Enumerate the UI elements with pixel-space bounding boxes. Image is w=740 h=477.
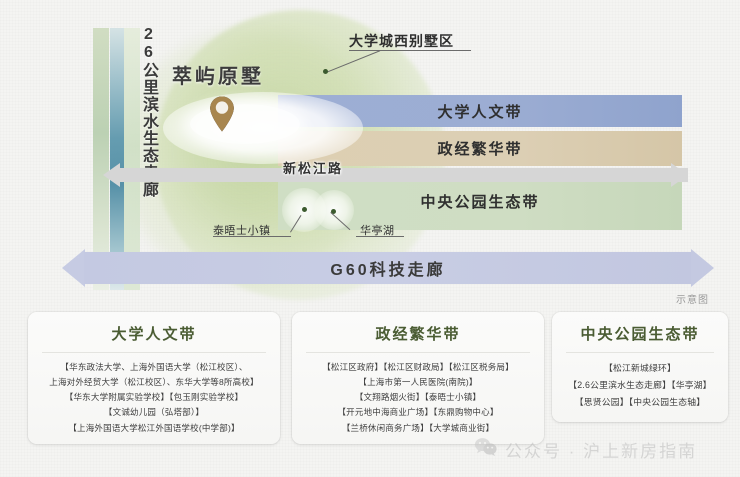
arrow-shaft xyxy=(119,168,688,182)
card-body: 【华东政法大学、上海外国语大学（松江校区）、 上海对外经贸大学（松江校区）、东华… xyxy=(28,353,280,442)
card-economy-prosperity-belt: 政经繁华带 【松江区政府】【松江区财政局】【松江区税务局】 【上海市第一人民医院… xyxy=(292,312,544,444)
project-name-label: 萃屿原墅 xyxy=(172,60,264,89)
watermark-text: 公众号 · 沪上新房指南 xyxy=(505,437,697,462)
card-line: 【文翔路烟火街】【泰晤士小镇】 xyxy=(300,390,536,405)
schematic-note: 示意图 xyxy=(676,291,709,306)
road-label: 新松江路 xyxy=(283,158,343,177)
watermark: 公众号 · 沪上新房指南 xyxy=(474,437,697,462)
card-title: 大学人文带 xyxy=(28,312,280,352)
card-line: 【松江新城绿环】 xyxy=(560,360,720,377)
poi-underline-thames xyxy=(213,236,291,237)
card-title: 中央公园生态带 xyxy=(552,312,728,352)
map-pin-icon xyxy=(208,95,236,133)
arrow-head-right xyxy=(671,163,688,187)
infographic-canvas: 26公里滨水生态走廊 大学人文带 政经繁华带 中央公园生态带 萃屿原墅 大学城西… xyxy=(0,0,740,477)
villa-zone-underline xyxy=(349,50,471,51)
villa-zone-dot xyxy=(323,69,328,74)
card-line: 【文诚幼儿园（弘塔部）】 xyxy=(36,405,272,420)
card-line: 【松江区政府】【松江区财政局】【松江区税务局】 xyxy=(300,360,536,375)
card-title: 政经繁华带 xyxy=(292,312,544,352)
wechat-icon xyxy=(474,437,498,462)
xinsongjiang-road-arrow xyxy=(103,163,688,187)
g60-corridor-label: G60科技走廊 xyxy=(62,249,714,287)
map-diagram: 26公里滨水生态走廊 大学人文带 政经繁华带 中央公园生态带 萃屿原墅 大学城西… xyxy=(0,0,740,310)
g60-corridor-arrow: G60科技走廊 xyxy=(62,249,714,287)
card-line: 【思贤公园】【中央公园生态轴】 xyxy=(560,394,720,411)
card-line: 【上海外国语大学松江外国语学校(中学部)】 xyxy=(36,421,272,436)
card-line: 【上海市第一人民医院(南院)】 xyxy=(300,375,536,390)
card-line: 【开元地中海商业广场】【东鼎购物中心】 xyxy=(300,405,536,420)
legend-cards: 大学人文带 【华东政法大学、上海外国语大学（松江校区）、 上海对外经贸大学（松江… xyxy=(0,312,740,452)
project-halo-inner xyxy=(190,104,300,144)
card-line: 上海对外经贸大学（松江校区）、东华大学等8所高校】 xyxy=(36,375,272,390)
card-line: 【华东政法大学、上海外国语大学（松江校区）、 xyxy=(36,360,272,375)
poi-dot-thames xyxy=(302,207,307,212)
arrow-head-left xyxy=(103,163,120,187)
card-university-culture-belt: 大学人文带 【华东政法大学、上海外国语大学（松江校区）、 上海对外经贸大学（松江… xyxy=(28,312,280,444)
card-body: 【松江区政府】【松江区财政局】【松江区税务局】 【上海市第一人民医院(南院)】 … xyxy=(292,353,544,442)
card-line: 【2.6公里滨水生态走廊】【华亭湖】 xyxy=(560,377,720,394)
card-central-park-eco-belt: 中央公园生态带 【松江新城绿环】 【2.6公里滨水生态走廊】【华亭湖】 【思贤公… xyxy=(552,312,728,422)
villa-zone-label: 大学城西别墅区 xyxy=(349,31,454,51)
card-line: 【华东大学附属实验学校】【包玉刚实验学校】 xyxy=(36,390,272,405)
card-line: 【兰桥休闲商务广场】【大学城商业街】 xyxy=(300,421,536,436)
card-body: 【松江新城绿环】 【2.6公里滨水生态走廊】【华亭湖】 【思贤公园】【中央公园生… xyxy=(552,353,728,417)
poi-underline-huating xyxy=(356,236,404,237)
